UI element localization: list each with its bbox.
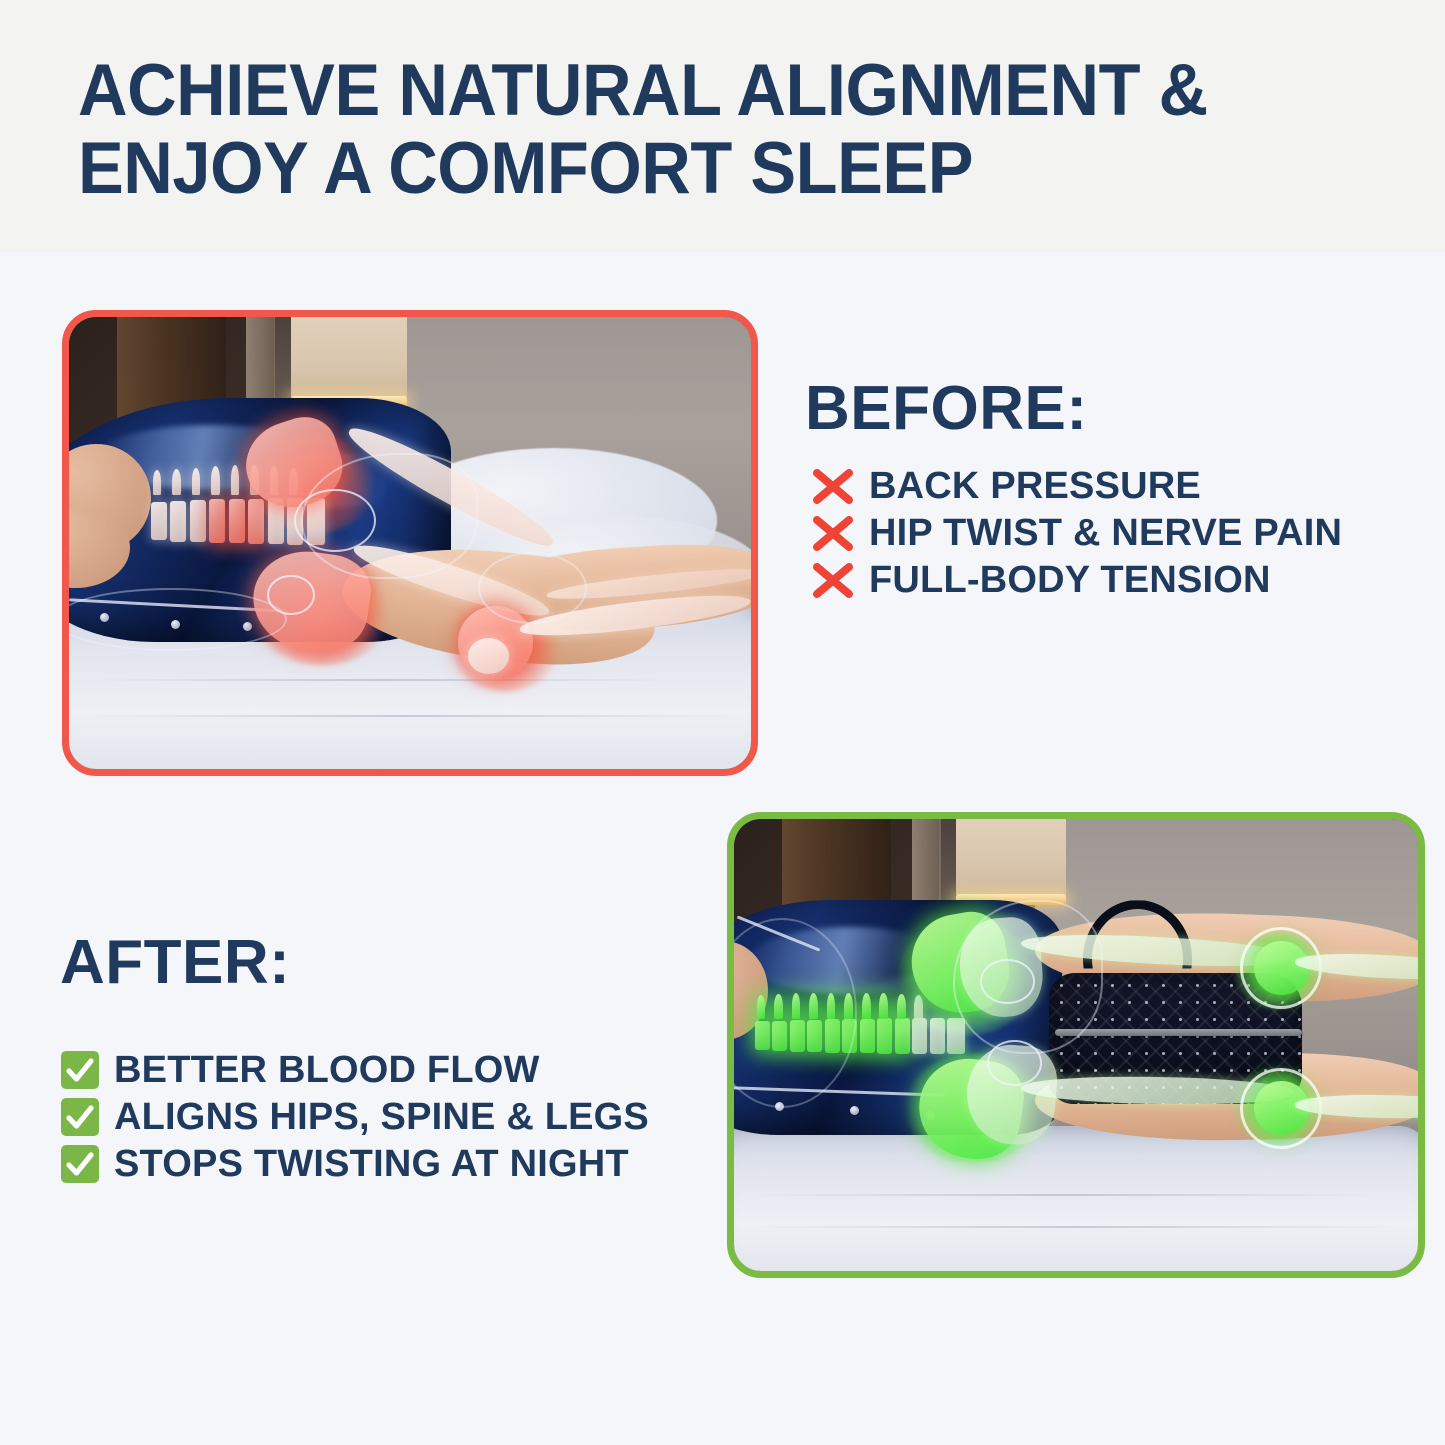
list-item-label: FULL-BODY TENSION bbox=[869, 561, 1271, 599]
x-mark-icon bbox=[805, 511, 861, 555]
after-section: AFTER: BETTER BLOOD FLOW ALIGNS HIPS, SP… bbox=[60, 932, 720, 1187]
page-title: ACHIEVE NATURAL ALIGNMENT & ENJOY A COMF… bbox=[78, 52, 1319, 208]
mattress-crease bbox=[748, 1226, 1405, 1228]
check-mark-icon bbox=[60, 1144, 100, 1184]
before-bullet-list: BACK PRESSURE HIP TWIST & NERVE PAIN bbox=[805, 462, 1405, 603]
list-item: HIP TWIST & NERVE PAIN bbox=[805, 509, 1405, 556]
list-item: BETTER BLOOD FLOW bbox=[60, 1046, 720, 1093]
after-title: AFTER: bbox=[60, 932, 720, 994]
check-mark-icon bbox=[60, 1050, 100, 1090]
pillow-zipper bbox=[1055, 1029, 1301, 1036]
mattress bbox=[734, 1126, 1418, 1271]
lamp-shade-icon bbox=[956, 819, 1065, 896]
before-title: BEFORE: bbox=[805, 378, 1405, 440]
list-item-label: ALIGNS HIPS, SPINE & LEGS bbox=[114, 1098, 649, 1136]
mattress-crease bbox=[83, 715, 738, 717]
list-item-label: BETTER BLOOD FLOW bbox=[114, 1051, 540, 1089]
mattress-crease bbox=[755, 1194, 1371, 1196]
knee-condyle bbox=[468, 638, 509, 674]
before-photo bbox=[69, 317, 751, 769]
mattress-crease bbox=[96, 679, 669, 681]
check-mark-icon bbox=[60, 1097, 100, 1137]
after-photo bbox=[734, 819, 1418, 1271]
list-item-label: HIP TWIST & NERVE PAIN bbox=[869, 514, 1342, 552]
promo-graphic: ACHIEVE NATURAL ALIGNMENT & ENJOY A COMF… bbox=[0, 0, 1445, 1445]
list-item: STOPS TWISTING AT NIGHT bbox=[60, 1140, 720, 1187]
lamp-shade-icon bbox=[291, 317, 407, 398]
list-item-label: BACK PRESSURE bbox=[869, 467, 1201, 505]
list-item: ALIGNS HIPS, SPINE & LEGS bbox=[60, 1093, 720, 1140]
list-item: BACK PRESSURE bbox=[805, 462, 1405, 509]
before-section: BEFORE: BACK PRESSURE bbox=[805, 378, 1405, 603]
knee-outline bbox=[478, 552, 587, 624]
after-photo-frame bbox=[727, 812, 1425, 1278]
x-mark-icon bbox=[805, 464, 861, 508]
x-mark-icon bbox=[805, 558, 861, 602]
before-photo-frame bbox=[62, 310, 758, 776]
list-item: FULL-BODY TENSION bbox=[805, 556, 1405, 603]
list-item-label: STOPS TWISTING AT NIGHT bbox=[114, 1145, 629, 1183]
after-bullet-list: BETTER BLOOD FLOW ALIGNS HIPS, SPINE & L… bbox=[60, 1046, 720, 1187]
